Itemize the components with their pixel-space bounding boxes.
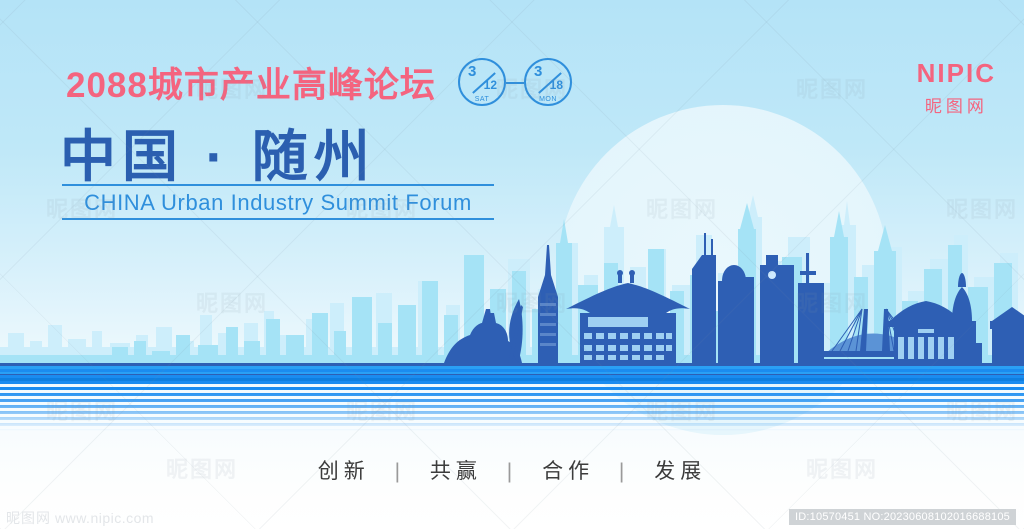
start-day: 12 [484,78,497,92]
start-weekday: SAT [460,96,504,103]
subtitle-block: CHINA Urban Industry Summit Forum [62,184,494,220]
subtitle-rule-top [62,184,494,186]
footer-id-badge: ID:10570451 NO:20230608102016688105 [789,509,1016,525]
footer-bar: 昵图网www.nipic.com ID:10570451 NO:20230608… [0,507,1024,529]
end-month: 3 [534,63,542,80]
skyline-landmarks-layer [0,225,1024,375]
end-day: 18 [550,78,563,92]
page-title: 中国 · 随州 [60,112,376,193]
slogan-item-4: 发展 [654,460,706,483]
subtitle-text: CHINA Urban Industry Summit Forum [62,189,494,217]
water-stripes [0,369,1024,431]
slogan-item-2: 共赢 [430,460,482,483]
nipic-logo: NIPIC 昵图网 [917,58,996,117]
slogan-separator: | [619,460,629,483]
subtitle-rule-bottom [62,218,494,220]
date-badge-start: 3 12 SAT [458,58,506,106]
logo-text-cn: 昵图网 [917,92,996,117]
date-badge-end: 3 18 MON [524,58,572,106]
footer-site-url: www.nipic.com [55,510,154,526]
event-date-range: 3 12 SAT 3 18 MON [458,58,578,110]
slogan-item-3: 合作 [542,460,594,483]
footer-site-cn: 昵图网 [6,510,51,526]
end-weekday: MON [526,96,570,103]
slogan-separator: | [395,460,405,483]
watermark-text: 昵图网 [796,72,868,104]
poster-canvas: 2088城市产业高峰论坛 中国 · 随州 CHINA Urban Industr… [0,0,1024,529]
date-connector-line [506,82,524,84]
footer-site: 昵图网www.nipic.com [6,508,154,528]
slogan-separator: | [507,460,517,483]
slogan-bar: 创新 | 共赢 | 合作 | 发展 [0,455,1024,485]
event-headline: 2088城市产业高峰论坛 [66,57,436,108]
slogan-item-1: 创新 [318,460,370,483]
start-month: 3 [468,63,476,80]
logo-text-en: NIPIC [917,58,996,89]
